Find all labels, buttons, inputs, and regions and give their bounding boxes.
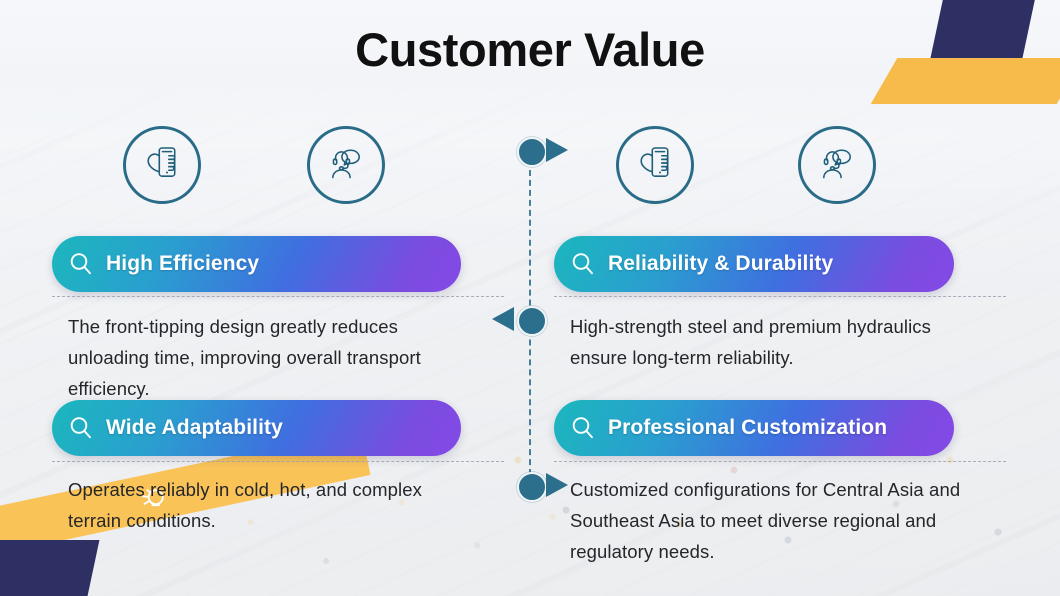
card-title-pill-reliability-durability[interactable]: Reliability & Durability <box>554 236 954 292</box>
icon-circle-phone-left <box>123 126 201 204</box>
card-body-wide-adaptability: Operates reliably in cold, hot, and comp… <box>68 474 458 536</box>
magnifier-icon <box>68 415 94 441</box>
headset-support-agent-icon <box>326 143 366 188</box>
hand-holding-phone-icon <box>635 143 675 188</box>
slide-customer-value: Customer Value <box>0 0 1060 596</box>
card-title-label: Professional Customization <box>608 416 887 440</box>
card-title-pill-high-efficiency[interactable]: High Efficiency <box>52 236 461 292</box>
card-title-pill-wide-adaptability[interactable]: Wide Adaptability <box>52 400 461 456</box>
card-divider-rule <box>554 461 1006 462</box>
icon-circle-support-right <box>798 126 876 204</box>
card-divider-rule <box>554 296 1006 297</box>
card-title-label: Reliability & Durability <box>608 252 833 276</box>
headset-support-agent-icon <box>817 143 857 188</box>
magnifier-icon <box>68 251 94 277</box>
timeline-node-middle <box>517 306 547 336</box>
icon-circle-phone-right <box>616 126 694 204</box>
timeline-node-bottom <box>517 472 547 502</box>
card-body-reliability-durability: High-strength steel and premium hydrauli… <box>570 311 970 373</box>
arrow-right-icon-top <box>546 138 568 162</box>
icon-circle-support-left <box>307 126 385 204</box>
timeline-node-top <box>517 137 547 167</box>
magnifier-icon <box>570 251 596 277</box>
arrow-left-icon-middle <box>492 307 514 331</box>
arrow-right-icon-bottom <box>546 473 568 497</box>
hand-holding-phone-icon <box>142 143 182 188</box>
card-body-professional-customization: Customized configurations for Central As… <box>570 474 975 567</box>
card-title-label: Wide Adaptability <box>106 416 283 440</box>
card-divider-rule <box>52 296 504 297</box>
page-title: Customer Value <box>0 22 1060 77</box>
card-title-pill-professional-customization[interactable]: Professional Customization <box>554 400 954 456</box>
card-title-label: High Efficiency <box>106 252 259 276</box>
card-body-high-efficiency: The front-tipping design greatly reduces… <box>68 311 456 404</box>
magnifier-icon <box>570 415 596 441</box>
card-divider-rule <box>52 461 504 462</box>
